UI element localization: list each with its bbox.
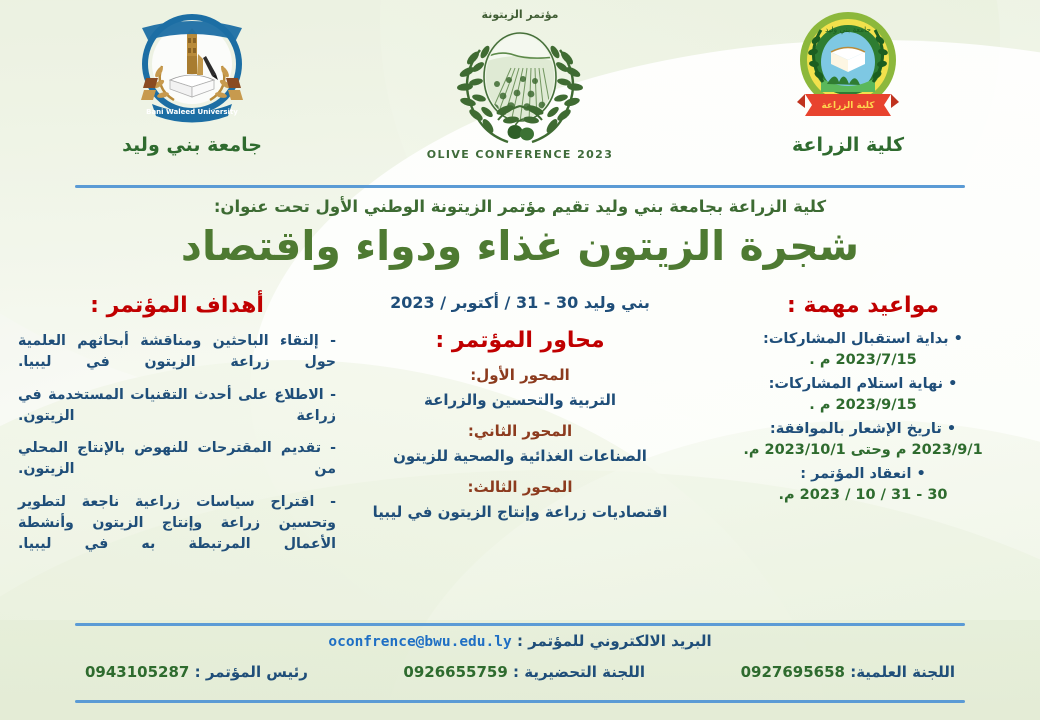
objectives-column: أهداف المؤتمر : - إلتقاء الباحثين ومناقش… bbox=[18, 293, 336, 615]
conference-date-line: بني وليد 30 - 31 / أكتوبر / 2023 bbox=[344, 293, 696, 312]
olive-wreath-emblem-icon bbox=[445, 22, 595, 146]
contact-label: اللجنة التحضيرية : bbox=[513, 663, 645, 681]
faculty-logo-banner-text: كلية الزراعة bbox=[821, 101, 875, 111]
axis-label: المحور الثاني: bbox=[344, 422, 696, 440]
axis-text: اقتصاديات زراعة وإنتاج الزيتون في ليبيا bbox=[344, 503, 696, 521]
axes-heading: محاور المؤتمر : bbox=[344, 328, 696, 353]
date-value: 2023/7/15 م . bbox=[704, 352, 1022, 368]
contact-label: اللجنة العلمية: bbox=[850, 663, 955, 681]
date-label: • نهاية استلام المشاركات: bbox=[704, 376, 1022, 392]
axis-label: المحور الأول: bbox=[344, 366, 696, 384]
poster-footer: البريد الالكتروني للمؤتمر : oconfrence@b… bbox=[75, 632, 965, 698]
date-item: • انعقاد المؤتمر : 30 - 31 / 10 / 2023 م… bbox=[704, 466, 1022, 503]
objective-item: - إلتقاء الباحثين ومناقشة أبحاثهم العلمي… bbox=[18, 331, 336, 374]
email-row: البريد الالكتروني للمؤتمر : oconfrence@b… bbox=[75, 632, 965, 650]
contact-label: رئيس المؤتمر : bbox=[195, 663, 308, 681]
contacts-row: رئيس المؤتمر : 0943105287 اللجنة التحضير… bbox=[75, 663, 965, 681]
date-item: • تاريخ الإشعار بالموافقة: 2023/9/1 م وح… bbox=[704, 421, 1022, 458]
poster-header: جامعة بني وليد كلية الزراعة كلية الزراعة… bbox=[0, 8, 1040, 186]
faculty-of-agriculture-emblem-icon: جامعة بني وليد كلية الزراعة bbox=[783, 8, 913, 128]
bani-waleed-university-caption: جامعة بني وليد bbox=[122, 134, 262, 156]
university-logo-ribbon-text: Bani Waleed University bbox=[146, 108, 238, 116]
email-address-link[interactable]: oconfrence@bwu.edu.ly bbox=[328, 634, 511, 650]
date-label: • انعقاد المؤتمر : bbox=[704, 466, 1022, 482]
email-label: البريد الالكتروني للمؤتمر : bbox=[517, 632, 712, 650]
objectives-heading: أهداف المؤتمر : bbox=[18, 293, 336, 318]
content-columns: أهداف المؤتمر : - إلتقاء الباحثين ومناقش… bbox=[18, 293, 1022, 615]
contact-number: 0926655759 bbox=[403, 663, 507, 681]
important-dates-column: مواعيد مهمة : • بداية استقبال المشاركات:… bbox=[704, 293, 1022, 615]
poster-title: شجرة الزيتون غذاء ودواء واقتصاد bbox=[0, 221, 1040, 272]
date-label: • تاريخ الإشعار بالموافقة: bbox=[704, 421, 1022, 437]
olive-conference-logo-block: مؤتمر الزيتونة bbox=[395, 8, 645, 161]
olive-conference-bottom-label: OLIVE CONFERENCE 2023 bbox=[427, 148, 614, 161]
faculty-of-agriculture-caption: كلية الزراعة bbox=[792, 134, 904, 156]
axis-text: الصناعات الغذائية والصحية للزيتون bbox=[344, 447, 696, 465]
contact-item: رئيس المؤتمر : 0943105287 bbox=[85, 663, 308, 681]
conference-poster: جامعة بني وليد كلية الزراعة كلية الزراعة… bbox=[0, 0, 1040, 720]
date-value: 2023/9/15 م . bbox=[704, 397, 1022, 413]
date-value: 30 - 31 / 10 / 2023 م. bbox=[704, 487, 1022, 503]
contact-number: 0943105287 bbox=[85, 663, 189, 681]
axis-label: المحور الثالث: bbox=[344, 478, 696, 496]
date-label: • بداية استقبال المشاركات: bbox=[704, 331, 1022, 347]
date-value: 2023/9/1 م وحتى 2023/10/1 م. bbox=[704, 442, 1022, 458]
footer-divider-bottom bbox=[75, 700, 965, 703]
faculty-logo-inner-text: جامعة بني وليد bbox=[825, 25, 871, 34]
objective-item: - الاطلاع على أحدث التقنيات المستخدمة في… bbox=[18, 385, 336, 428]
important-dates-heading: مواعيد مهمة : bbox=[704, 293, 1022, 318]
olive-conference-top-label: مؤتمر الزيتونة bbox=[482, 8, 559, 21]
date-item: • بداية استقبال المشاركات: 2023/7/15 م . bbox=[704, 331, 1022, 368]
contact-number: 0927695658 bbox=[741, 663, 845, 681]
date-item: • نهاية استلام المشاركات: 2023/9/15 م . bbox=[704, 376, 1022, 413]
contact-item: اللجنة العلمية: 0927695658 bbox=[741, 663, 955, 681]
bani-waleed-university-logo-block: Bani Waleed University جامعة بني وليد bbox=[72, 8, 312, 156]
objective-item: - اقتراح سياسات زراعية ناجعة لتطوير وتحس… bbox=[18, 492, 336, 556]
objective-item: - تقديم المقترحات للنهوض بالإنتاج المحلي… bbox=[18, 438, 336, 481]
axis-text: التربية والتحسين والزراعة bbox=[344, 391, 696, 409]
title-block: كلية الزراعة بجامعة بني وليد تقيم مؤتمر … bbox=[0, 196, 1040, 273]
footer-divider-top bbox=[75, 623, 965, 626]
contact-item: اللجنة التحضيرية : 0926655759 bbox=[403, 663, 645, 681]
bani-waleed-university-emblem-icon: Bani Waleed University bbox=[126, 8, 258, 128]
header-divider bbox=[75, 185, 965, 188]
faculty-of-agriculture-logo-block: جامعة بني وليد كلية الزراعة كلية الزراعة bbox=[728, 8, 968, 156]
axes-column: بني وليد 30 - 31 / أكتوبر / 2023 محاور ا… bbox=[344, 293, 696, 615]
poster-subtitle: كلية الزراعة بجامعة بني وليد تقيم مؤتمر … bbox=[0, 196, 1040, 217]
